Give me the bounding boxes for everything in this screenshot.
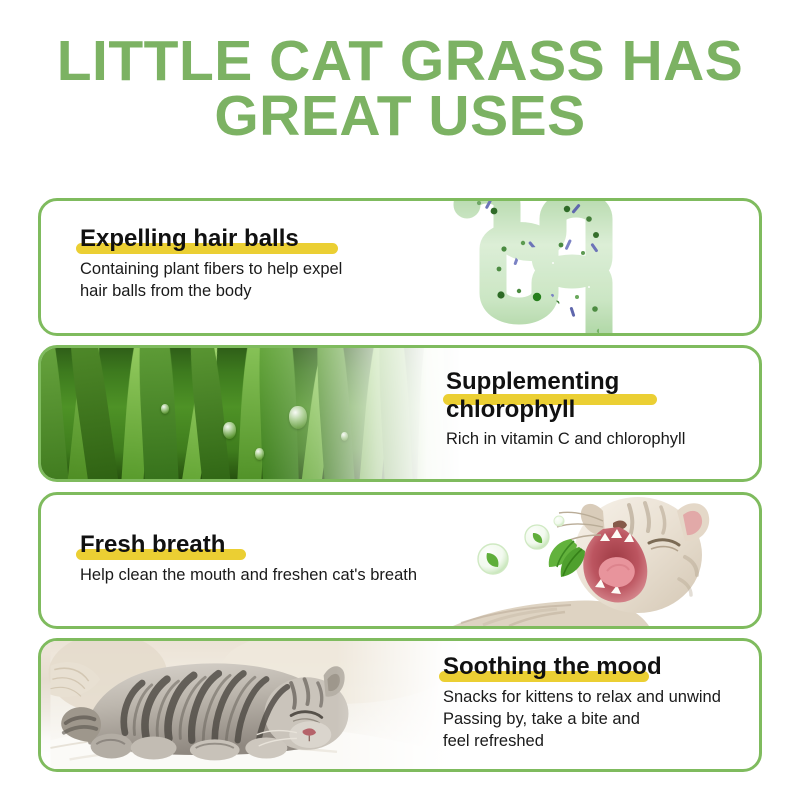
card-body-text: Containing plant fibers to help expel ha…	[80, 258, 342, 302]
page-title-line-1: LITTLE CAT GRASS HAS	[0, 34, 800, 89]
infographic-page: LITTLE CAT GRASS HAS GREAT USES	[0, 0, 800, 800]
card-heading-text: Soothing the mood	[443, 653, 662, 680]
feature-card-soothing-the-mood[interactable]: Soothing the mood Snacks for kittens to …	[38, 638, 762, 772]
card-heading-line-1: Supplementing	[446, 368, 619, 395]
yawning-cat-with-mint-leaf	[453, 492, 753, 626]
card-heading-line-2: chlorophyll	[446, 396, 575, 423]
feature-card-fresh-breath[interactable]: Fresh breath Help clean the mouth and fr…	[38, 492, 762, 629]
page-title-line-2: GREAT USES	[0, 89, 800, 144]
sleeping-tabby-cat-photo	[41, 641, 463, 769]
breath-bubble	[554, 516, 564, 526]
feature-card-expelling-hair-balls[interactable]: Expelling hair balls Containing plant fi…	[38, 198, 762, 336]
page-title: LITTLE CAT GRASS HAS GREAT USES	[0, 34, 800, 144]
card-body-text: Snacks for kittens to relax and unwind P…	[443, 686, 721, 752]
card-body-text: Rich in vitamin C and chlorophyll	[446, 428, 685, 450]
card-text-block: Soothing the mood Snacks for kittens to …	[443, 653, 721, 752]
card-text-block: Supplementing chlorophyll Rich in vitami…	[446, 368, 685, 450]
grass-fade-overlay	[41, 348, 461, 479]
card-body-text: Help clean the mouth and freshen cat's b…	[80, 564, 417, 586]
card-heading: Expelling hair balls	[80, 225, 299, 253]
card-heading: Supplementing chlorophyll	[446, 368, 619, 424]
card-text-block: Expelling hair balls Containing plant fi…	[80, 225, 342, 302]
feature-card-supplementing-chlorophyll[interactable]: Supplementing chlorophyll Rich in vitami…	[38, 345, 762, 482]
grass-blades-with-dew-photo	[41, 348, 461, 479]
card-text-block: Fresh breath Help clean the mouth and fr…	[80, 531, 417, 586]
breath-bubble	[478, 544, 508, 574]
card-heading-text: Expelling hair balls	[80, 225, 299, 252]
breath-bubble	[525, 525, 549, 549]
card-heading: Soothing the mood	[443, 653, 662, 681]
intestine-illustration	[449, 198, 669, 336]
card-heading-text: Fresh breath	[80, 531, 225, 558]
photo-fade-overlay	[41, 641, 463, 769]
card-heading: Fresh breath	[80, 531, 225, 559]
